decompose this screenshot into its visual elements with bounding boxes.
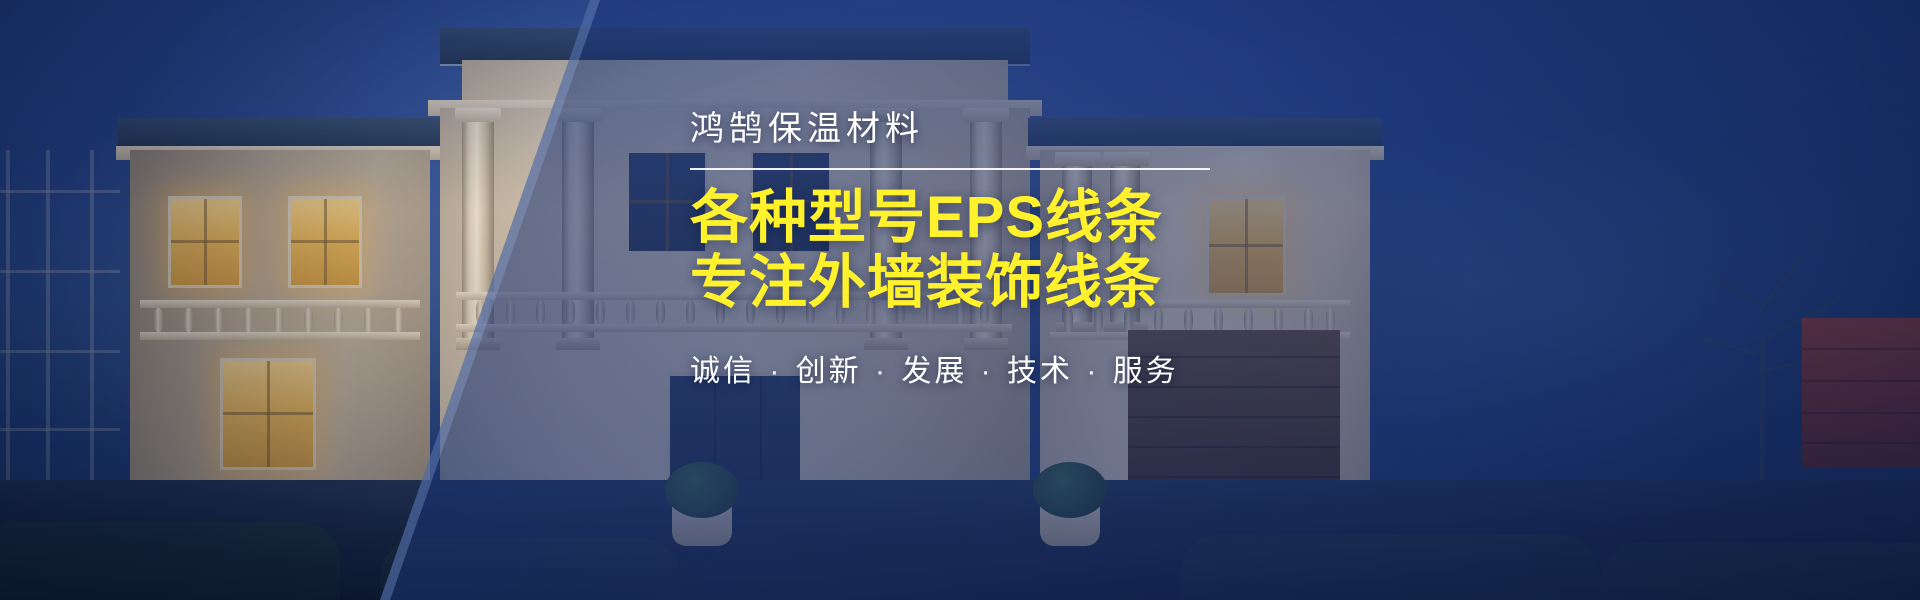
headline-line-2: 专注外墙装饰线条 [690,251,1310,316]
divider-rule [690,168,1210,170]
brand-name: 鸿鹄保温材料 [690,112,1310,146]
tagline-separator: · [967,355,1007,388]
tagline-item: 创新 [796,355,862,388]
tagline-item: 诚信 [690,355,756,388]
tagline-separator: · [862,355,902,388]
headline-line-1: 各种型号EPS线条 [690,186,1310,251]
hero-banner: 鸿鹄保温材料 各种型号EPS线条 专注外墙装饰线条 诚信 · 创新 · 发展 ·… [0,0,1920,600]
tagline-item: 发展 [901,355,967,388]
tagline-item: 服务 [1113,355,1179,388]
tagline-item: 技术 [1007,355,1073,388]
tagline-separator: · [756,355,796,388]
tagline: 诚信 · 创新 · 发展 · 技术 · 服务 [690,346,1310,390]
tagline-separator: · [1073,355,1113,388]
banner-copy: 鸿鹄保温材料 各种型号EPS线条 专注外墙装饰线条 诚信 · 创新 · 发展 ·… [690,112,1310,390]
